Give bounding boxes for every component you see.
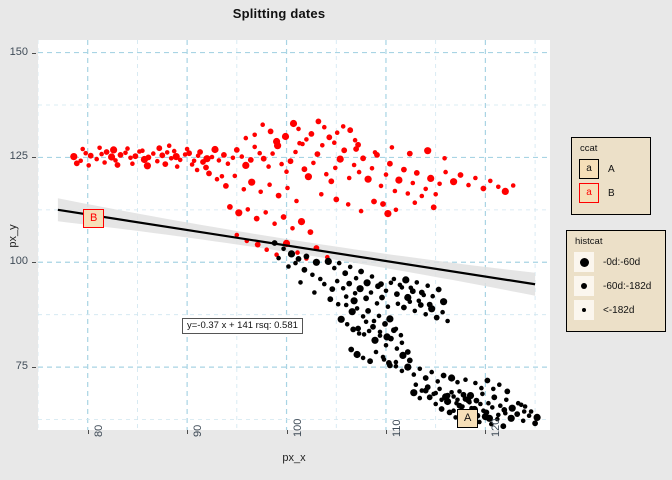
cluster-label-a: A [457, 409, 478, 428]
y-tick-label: 125 [0, 150, 28, 162]
point-icon-large [580, 258, 589, 267]
legend-ccat-label-b: B [608, 188, 615, 199]
cluster-label-b: B [83, 209, 104, 228]
legend-histcat-item-0[interactable]: -0d:-60d [567, 250, 665, 274]
y-tick-label: 150 [0, 46, 28, 58]
plot-root: Splitting dates y=-0.37 x + 141 rsq: 0.5… [0, 0, 672, 480]
glyph-a-red: a [586, 188, 592, 198]
legend-histcat-label-1: -60d:-182d [603, 281, 651, 292]
x-tick-mark [386, 430, 387, 434]
legend-histcat-label-0: -0d:-60d [603, 257, 640, 268]
legend-ccat-label-a: A [608, 164, 615, 175]
y-tick-mark [32, 53, 36, 54]
legend-ccat-item-a[interactable]: a A [572, 157, 650, 181]
legend-key-size-small-icon [574, 300, 594, 320]
legend-histcat-item-1[interactable]: -60d:-182d [567, 274, 665, 298]
x-tick-mark [88, 430, 89, 434]
legend-ccat[interactable]: ccat a A a B [571, 137, 651, 215]
plot-panel[interactable]: y=-0.37 x + 141 rsq: 0.581 B A [38, 40, 550, 430]
regression-line [38, 40, 550, 430]
x-tick-label: 100 [292, 419, 304, 437]
x-tick-label: 120 [490, 419, 502, 437]
legend-histcat-item-2[interactable]: <-182d [567, 298, 665, 322]
glyph-a: a [586, 164, 592, 174]
y-tick-mark [32, 157, 36, 158]
legend-key-size-large-icon [574, 252, 594, 272]
legend-key-size-medium-icon [574, 276, 594, 296]
x-tick-mark [287, 430, 288, 434]
x-axis-title: px_x [38, 452, 550, 464]
y-tick-mark [32, 367, 36, 368]
point-icon-small [582, 308, 586, 312]
legend-histcat[interactable]: histcat -0d:-60d -60d:-182d <-182d [566, 230, 666, 332]
legend-histcat-label-2: <-182d [603, 305, 634, 316]
x-tick-label: 80 [93, 425, 105, 437]
x-tick-mark [187, 430, 188, 434]
legend-ccat-item-b[interactable]: a B [572, 181, 650, 205]
x-tick-mark [485, 430, 486, 434]
y-axis-title: px_y [7, 201, 19, 271]
y-tick-label: 75 [0, 360, 28, 372]
legend-ccat-title: ccat [572, 138, 650, 157]
x-tick-label: 110 [391, 419, 403, 437]
page-title: Splitting dates [0, 6, 558, 21]
regression-equation-label: y=-0.37 x + 141 rsq: 0.581 [182, 318, 303, 334]
y-tick-mark [32, 262, 36, 263]
legend-histcat-title: histcat [567, 231, 665, 250]
point-icon-medium [581, 283, 587, 289]
legend-key-a-icon: a [579, 159, 599, 179]
legend-key-b-icon: a [579, 183, 599, 203]
x-tick-label: 90 [192, 425, 204, 437]
